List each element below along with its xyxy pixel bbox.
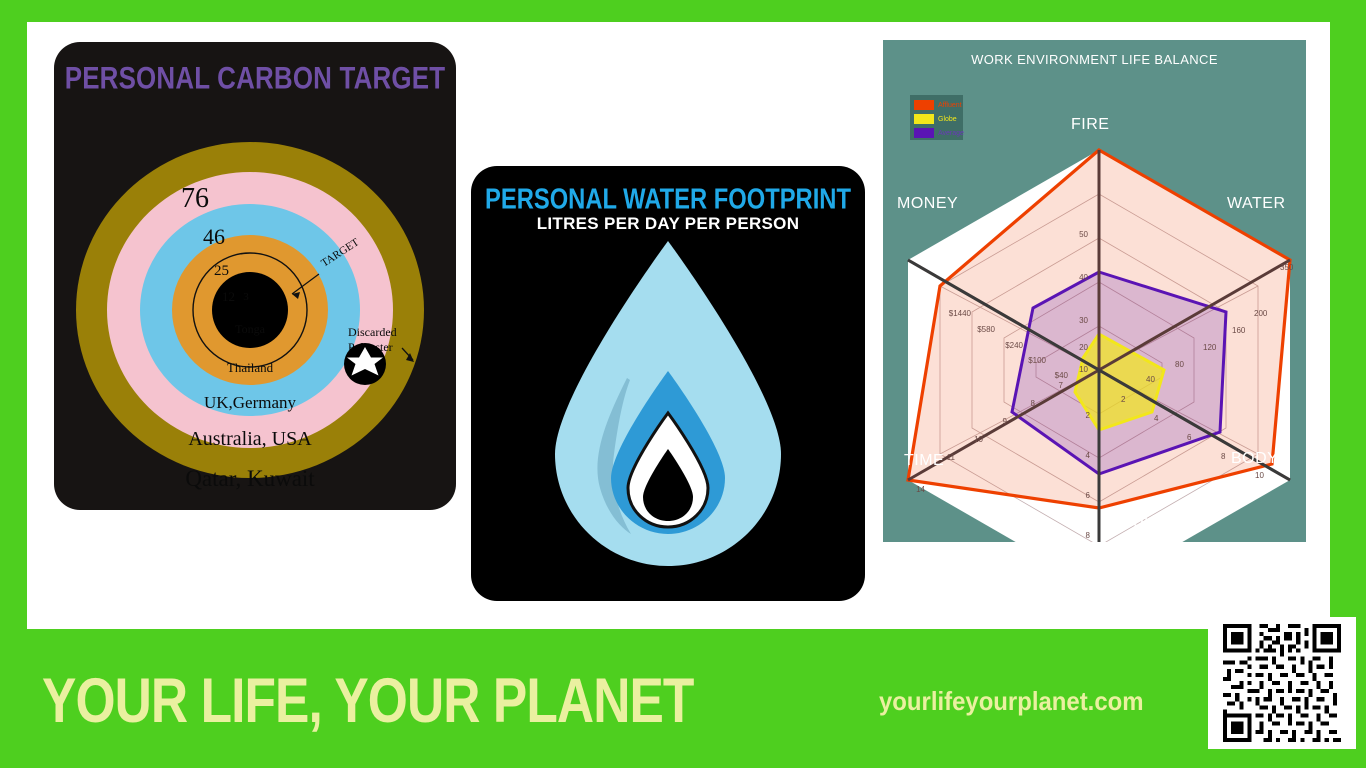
tick-water-200: 200 [1254,309,1268,318]
axis-label-soul: SOUL [1120,513,1166,531]
banner-website-url[interactable]: yourlifeyourplanet.com [879,686,1144,717]
infographic-poster: PERSONAL CARBON TARGET 76 46 25 12 3 Ton… [0,0,1366,768]
tick-water-350: 350 [1280,263,1294,272]
radar-legend: Affluent Globe Average [910,95,963,140]
tick-body-10: 10 [1255,471,1264,480]
ring-value-12: 12 [222,289,235,304]
axis-label-water: WATER [1227,195,1286,213]
country-label-thailand: Thailand [227,360,274,375]
tick-time-7: 7 [1059,381,1064,390]
water-droplet-chart [471,166,865,601]
tick-fire-20: 20 [1079,343,1088,352]
legend-swatch-globe [914,114,934,124]
legend-label-average: Average [938,130,964,137]
tick-money-40: $40 [1055,371,1069,380]
content-panel: PERSONAL CARBON TARGET 76 46 25 12 3 Ton… [27,22,1330,629]
country-label-australia-usa: Australia, USA [188,428,312,450]
tick-soul-6: 6 [1086,491,1091,500]
qr-code-icon [1215,624,1349,742]
polyester-annotation-line1: Discarded [348,325,397,339]
country-label-tonga: Tonga [235,322,265,336]
tick-fire-10: 10 [1079,365,1088,374]
country-label-uk-germany: UK,Germany [204,393,297,412]
axis-label-time: TIME [904,452,944,470]
tick-fire-30: 30 [1079,316,1088,325]
country-label-qatar-kuwait: Qatar, Kuwait [185,466,315,491]
legend-swatch-affluent [914,100,934,110]
tick-water-40: 40 [1146,375,1155,384]
ring-value-46: 46 [203,224,225,249]
banner-tagline: YOUR LIFE, YOUR PLANET [42,664,693,737]
legend-item-average: Average [914,127,959,139]
legend-item-globe: Globe [914,113,959,125]
tick-body-2: 2 [1121,395,1126,404]
tick-water-160: 160 [1232,326,1246,335]
tick-money-580: $580 [977,325,995,334]
tick-fire-40: 40 [1079,273,1088,282]
ring-value-25: 25 [214,263,229,279]
legend-label-affluent: Affluent [938,102,962,109]
legend-swatch-average [914,128,934,138]
axis-label-fire: FIRE [1071,116,1109,134]
tick-money-240: $240 [1005,341,1023,350]
tick-soul-8: 8 [1086,531,1091,540]
tick-water-80: 80 [1175,360,1184,369]
work-environment-life-balance-panel: WORK ENVIRONMENT LIFE BALANCE [883,40,1306,542]
tick-money-100: $100 [1028,356,1046,365]
ring-value-76: 76 [181,183,209,214]
tick-water-120: 120 [1203,343,1217,352]
axis-label-money: MONEY [897,195,958,213]
legend-label-globe: Globe [938,116,957,123]
tick-soul-2: 2 [1086,411,1091,420]
personal-carbon-target-panel: PERSONAL CARBON TARGET 76 46 25 12 3 Ton… [54,42,456,510]
tick-body-8: 8 [1221,452,1226,461]
qr-code[interactable] [1208,617,1356,749]
axis-label-body: BODY [1231,450,1278,468]
personal-water-footprint-panel: PERSONAL WATER FOOTPRINT LITRES PER DAY … [471,166,865,601]
carbon-target-chart: 76 46 25 12 3 Tonga Thailand UK,Germany … [54,42,456,510]
tick-fire-50: 50 [1079,230,1088,239]
tick-body-4: 4 [1154,414,1159,423]
tick-money-1440: $1440 [949,309,972,318]
legend-item-affluent: Affluent [914,99,959,111]
tick-time-11: 11 [947,453,956,462]
tick-body-6: 6 [1187,433,1192,442]
ring-value-3: 3 [243,291,249,303]
tick-time-14: 14 [916,485,925,494]
ring-tonga [212,272,288,348]
tick-time-8: 8 [1031,399,1036,408]
tick-soul-4: 4 [1086,451,1091,460]
tick-time-10: 10 [974,435,983,444]
tick-time-9: 9 [1003,417,1008,426]
